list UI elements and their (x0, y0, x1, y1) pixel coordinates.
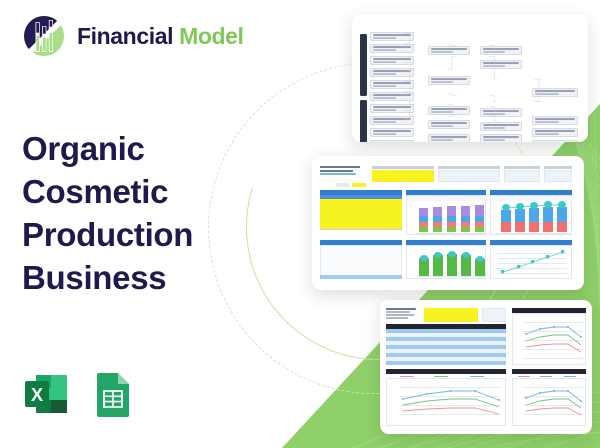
inputs-rows-3 (504, 170, 540, 182)
projection-chart-2-title (386, 369, 506, 374)
cost-categories-row-highlight (320, 275, 402, 279)
data-label-bubble (516, 203, 524, 210)
page-title-line-2: Cosmetic (22, 171, 262, 214)
data-label-bubble (502, 204, 510, 211)
data-label-bubble (434, 252, 442, 258)
data-label-bubble (462, 252, 470, 258)
data-label-bubble (544, 201, 552, 208)
poster-canvas: Financial Model Organic Cosmetic Product… (0, 0, 600, 448)
projection-title-block (386, 308, 420, 320)
projection-chart-3-title (512, 369, 586, 374)
page-title-line-1: Organic (22, 128, 262, 171)
cumulative-cashflow-line-chart (490, 245, 572, 279)
data-label-bubble (476, 256, 484, 262)
profitability-chart-title (490, 190, 572, 195)
expenses-chart-title (406, 190, 486, 195)
brand-name-part1: Financial (77, 23, 173, 49)
tree-connectors (360, 24, 582, 136)
inputs-header-2 (438, 166, 500, 169)
control-cell (336, 183, 350, 187)
projection-table (386, 329, 506, 365)
projection-chart-1-title (512, 308, 586, 313)
projection-readonly-cells (482, 308, 506, 322)
page-title-line-3: Production (22, 214, 262, 257)
projection-line-chart-3 (512, 378, 586, 426)
data-label-bubble (558, 201, 566, 208)
excel-file-icon[interactable]: X (22, 370, 70, 418)
tree-node (370, 140, 414, 142)
cost-inputs-table-body (320, 199, 402, 229)
revenue-chart-title (406, 240, 486, 245)
projection-line-chart-2 (386, 378, 506, 426)
inputs-rows-2 (438, 170, 500, 182)
dupont-tree (360, 24, 582, 136)
dupont-analysis-diagram-preview[interactable] (352, 14, 588, 142)
file-format-icons: X (22, 370, 136, 418)
projection-input-cells (424, 308, 478, 322)
profitability-stacked-bar (490, 195, 572, 235)
inputs-header-4 (544, 166, 572, 169)
data-label-bubble (530, 202, 538, 209)
svg-text:X: X (31, 385, 43, 405)
data-label-bubble (420, 255, 428, 261)
cost-breakdown-stacked-bar (406, 195, 486, 235)
assumptions-header (372, 166, 434, 169)
google-sheets-file-icon[interactable] (88, 370, 136, 418)
dashboard-title-block (320, 166, 364, 178)
brand-logo: Financial Model (22, 14, 244, 58)
revenue-bar-chart (406, 245, 486, 279)
brand-name-part2: Model (179, 23, 243, 49)
inputs-rows-4 (544, 170, 572, 182)
cost-categories-table-body (320, 245, 402, 279)
assumptions-input-cells (372, 170, 434, 182)
data-label-bubble (448, 251, 456, 257)
page-title-line-4: Business (22, 257, 262, 300)
projection-line-chart-1 (512, 313, 586, 365)
financial-model-circle-chart-logo (22, 14, 66, 58)
financial-projections-preview[interactable] (380, 300, 592, 434)
highlight-input-cell (352, 183, 366, 187)
tree-node (532, 140, 578, 142)
brand-name: Financial Model (77, 23, 244, 50)
inputs-header-3 (504, 166, 540, 169)
page-title: Organic Cosmetic Production Business (22, 128, 262, 300)
financial-dashboard-preview[interactable] (312, 156, 584, 290)
payback-chart-title (490, 240, 572, 245)
cost-inputs-table-footer (320, 229, 402, 234)
